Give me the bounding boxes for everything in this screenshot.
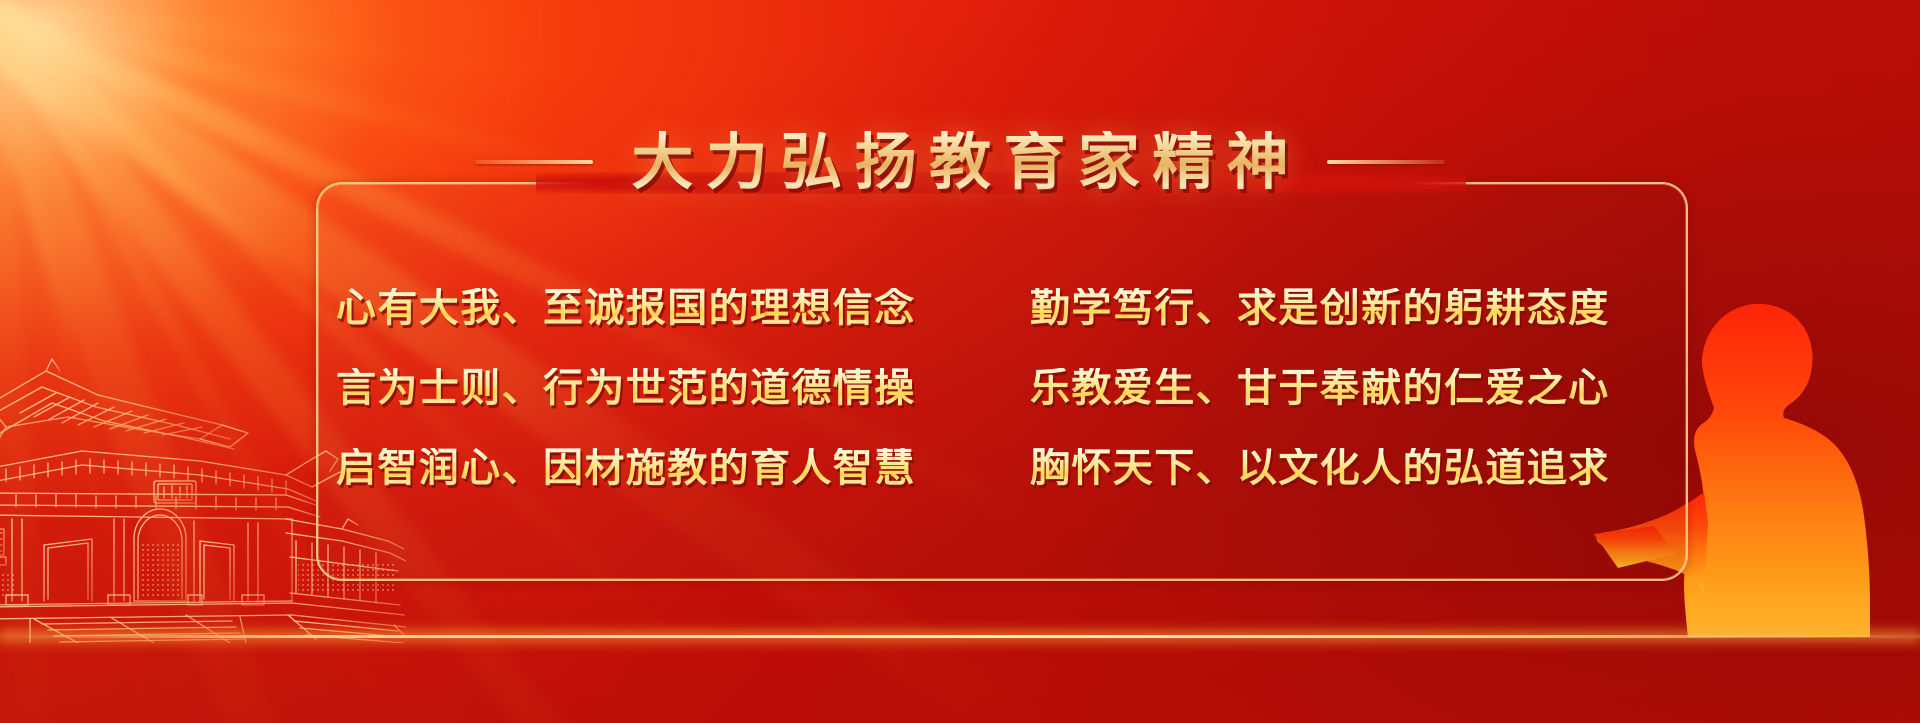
banner-root: 大力弘扬教育家精神 心有大我、至诚报国的理想信念 勤学笃行、求是创新的躬耕态度 … bbox=[0, 0, 1920, 723]
title-dash-left-icon bbox=[475, 160, 593, 164]
ray-icon bbox=[0, 0, 158, 723]
title-dash-right-icon bbox=[1327, 160, 1445, 164]
bottom-gold-line bbox=[0, 635, 1920, 638]
ray-icon bbox=[0, 0, 695, 97]
ray-icon bbox=[0, 0, 71, 723]
content-frame bbox=[316, 182, 1688, 581]
frame-title-gap bbox=[536, 172, 1466, 194]
